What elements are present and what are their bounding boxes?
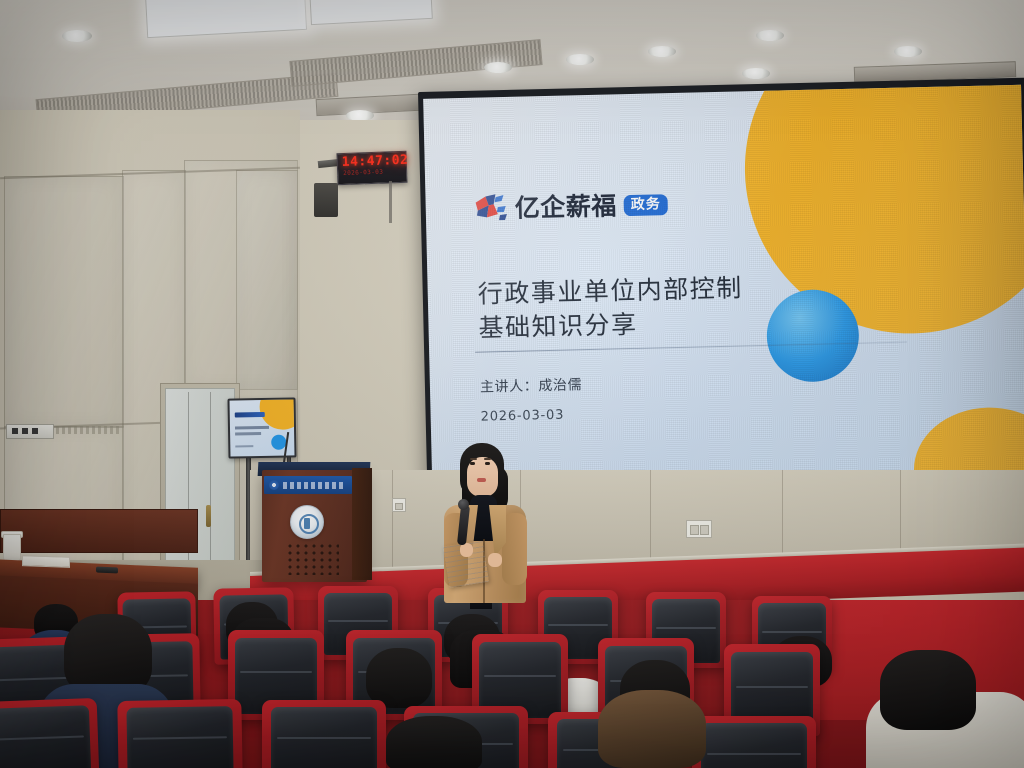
logo-wordmark: 亿企薪福 <box>514 193 617 220</box>
presenter-hand-right <box>488 553 502 567</box>
monitor-title-line <box>235 426 269 430</box>
podium-banner-crest-icon <box>269 480 279 490</box>
clock-date-display: 2026-03-03 <box>343 170 383 177</box>
brand-logo: 亿企薪福 政务 <box>473 189 668 224</box>
wall-power-socket[interactable] <box>686 520 712 538</box>
seat[interactable] <box>0 698 99 768</box>
door-handle[interactable] <box>206 505 211 527</box>
slide-title: 行政事业单位内部控制 基础知识分享 <box>477 270 808 345</box>
ceiling-downlight <box>566 54 594 65</box>
slide-title-line-2: 基础知识分享 <box>478 303 809 344</box>
led-wall-clock: 14:47:02 2026-03-03 <box>336 151 407 185</box>
wall-speaker <box>314 183 338 217</box>
paper-cup <box>3 534 21 562</box>
ceiling-downlight <box>894 46 922 57</box>
wall-panel <box>4 176 124 428</box>
lecture-hall-photo: 亿企薪福 政务 行政事业单位内部控制 基础知识分享 主讲人：成治儒 2026-0… <box>0 0 1024 768</box>
audience-head <box>366 648 432 708</box>
podium-name-banner <box>264 476 352 494</box>
ceiling-downlight <box>756 30 784 41</box>
stage-panel-seam <box>392 470 393 582</box>
logo-mark-icon <box>473 193 508 224</box>
monitor-logo-bar <box>235 412 265 418</box>
audience-head <box>386 716 482 768</box>
led-display-wall[interactable]: 亿企薪福 政务 行政事业单位内部控制 基础知识分享 主讲人：成治儒 2026-0… <box>418 78 1024 492</box>
ceiling-downlight <box>648 46 676 57</box>
seat[interactable] <box>262 700 386 768</box>
podium-side-panel <box>352 468 372 580</box>
podium-banner-text <box>283 482 345 489</box>
audience-head <box>880 650 976 730</box>
presenter-remote[interactable] <box>96 567 118 574</box>
podium-university-crest-icon <box>290 505 324 539</box>
seat[interactable] <box>117 699 242 768</box>
audience-head <box>598 690 706 768</box>
presenter-mouth <box>477 478 486 482</box>
presenter-hand-left <box>460 543 473 557</box>
slide-date: 2026-03-03 <box>481 409 565 424</box>
clock-time-display: 14:47:02 <box>342 154 409 169</box>
seat[interactable] <box>692 716 816 768</box>
ceiling-downlight <box>484 62 512 73</box>
presentation-slide: 亿企薪福 政务 行政事业单位内部控制 基础知识分享 主讲人：成治儒 2026-0… <box>423 85 1024 485</box>
ceiling-downlight <box>62 30 92 42</box>
mount-pole <box>389 181 392 223</box>
logo-badge: 政务 <box>623 194 667 216</box>
wall-power-socket[interactable] <box>392 498 406 512</box>
ceiling-downlight <box>742 68 770 79</box>
front-table-back <box>0 509 198 553</box>
monitor-title-line <box>235 432 261 435</box>
slide-presenter: 主讲人：成治儒 <box>480 378 583 394</box>
monitor-meta-line <box>235 445 253 447</box>
podium-speaker-grille <box>287 543 339 575</box>
wall-switch-plate[interactable] <box>6 424 54 439</box>
wall-sign <box>56 426 122 434</box>
presenter-person <box>432 443 536 603</box>
door-seam <box>210 392 211 563</box>
table-papers <box>22 555 70 568</box>
